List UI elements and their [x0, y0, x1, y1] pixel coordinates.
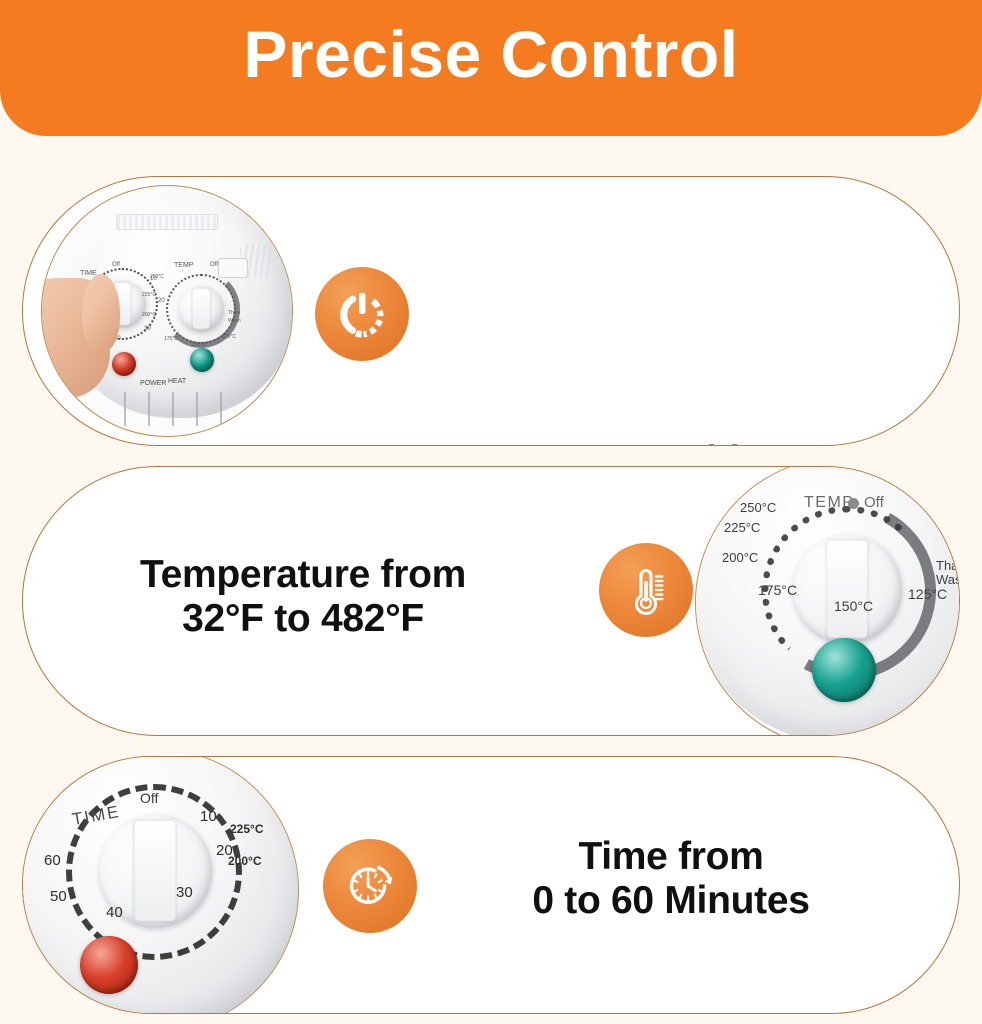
- finger-tip: [82, 274, 120, 352]
- card-heading-time: Time from 0 to 60 Minutes: [441, 835, 901, 922]
- photo-inner: TIME Off 10 20 30 40 50 60 TEMP Off 250°…: [42, 186, 292, 436]
- card-heading-line1: Temperature from: [83, 553, 523, 597]
- product-photo-temp-dial: TEMP Off 250°C 225°C 200°C 175°C 150°C 1…: [695, 466, 960, 736]
- temp-off-label: Off: [210, 262, 218, 268]
- clock-timer-icon: [339, 855, 401, 917]
- header-banner: Precise Control: [0, 0, 982, 136]
- temp-tick-250: 250°C: [740, 500, 776, 515]
- temp-dial-label: TEMP: [174, 262, 193, 269]
- card-heading-line1: Two Intuitive: [551, 439, 797, 446]
- feature-card-temperature: Temperature from 32°F to 482°F TEMP Off …: [22, 466, 960, 736]
- power-indicator-lamp: [80, 936, 138, 994]
- temp-knob[interactable]: [792, 534, 902, 644]
- temp-off-label: Off: [864, 494, 884, 511]
- card-heading-line1: Time from: [441, 835, 901, 879]
- temp-tick-250: 250°C: [150, 274, 164, 280]
- clock-timer-icon-badge: [323, 839, 417, 933]
- power-indicator-lamp: [112, 352, 136, 376]
- handle-icon: [218, 258, 248, 278]
- time-tick-60: 60: [44, 852, 61, 869]
- temp-tick-225: 225°C: [142, 292, 156, 298]
- card-heading-line2: 32°F to 482°F: [83, 597, 523, 641]
- lid-graphic-strip: [116, 214, 218, 230]
- card-heading-line2: 0 to 60 Minutes: [441, 879, 901, 923]
- temp-off-marker: [848, 498, 859, 509]
- temp-tick-175: 175°C: [164, 336, 178, 342]
- photo-inner: TIME Off 10 20 30 40 50 60 225°C 200°C: [22, 756, 298, 1014]
- heat-indicator-lamp: [190, 348, 214, 372]
- thaw-label: Thaw: [936, 558, 960, 573]
- product-photo-time-dial: TIME Off 10 20 30 40 50 60 225°C 200°C: [22, 756, 299, 1014]
- temp-tick-200: 200°C: [722, 550, 758, 565]
- thaw-label: Thaw: [228, 310, 240, 316]
- time-tick-30: 30: [176, 884, 193, 901]
- card-heading-temperature: Temperature from 32°F to 482°F: [83, 553, 523, 640]
- wash-label: Wash: [936, 572, 960, 587]
- temp-tick-225: 225°C: [230, 822, 264, 836]
- temp-tick-125: 125°C: [908, 586, 947, 602]
- photo-inner: TEMP Off 250°C 225°C 200°C 175°C 150°C 1…: [696, 466, 960, 736]
- temp-tick-200: 200°C: [142, 312, 156, 318]
- time-tick-10: 10: [200, 808, 217, 825]
- temp-tick-125: 125°C: [222, 334, 236, 340]
- temp-tick-200: 200°C: [228, 854, 262, 868]
- temp-tick-175: 175°C: [758, 582, 797, 598]
- feature-card-time: TIME Off 10 20 30 40 50 60 225°C 200°C: [22, 756, 960, 1014]
- temp-tick-150: 150°C: [192, 342, 206, 348]
- product-photo-control-panel: TIME Off 10 20 30 40 50 60 TEMP Off 250°…: [41, 185, 293, 437]
- temp-dial-label: TEMP: [804, 494, 854, 512]
- page-title: Precise Control: [243, 21, 738, 115]
- temp-tick-150: 150°C: [834, 598, 873, 614]
- power-lamp-label: POWER: [140, 380, 166, 387]
- temp-knob[interactable]: [178, 286, 224, 332]
- thermometer-icon: [617, 561, 675, 619]
- wash-label: Wash: [228, 318, 241, 324]
- temp-tick-225: 225°C: [724, 520, 760, 535]
- thermometer-icon-badge: [599, 543, 693, 637]
- time-off-label: Off: [112, 262, 120, 268]
- feature-card-control-knob: TIME Off 10 20 30 40 50 60 TEMP Off 250°…: [22, 176, 960, 446]
- base-slots: [104, 392, 224, 426]
- power-icon-badge: [315, 267, 409, 361]
- time-off-label: Off: [140, 790, 158, 806]
- time-tick-50: 50: [50, 888, 67, 905]
- time-tick-40: 40: [106, 904, 123, 921]
- card-heading-control-knob: Two Intuitive Control Knob: [551, 439, 797, 446]
- power-icon: [331, 283, 393, 345]
- heat-indicator-lamp: [812, 638, 876, 702]
- time-tick-30: 30: [144, 326, 151, 332]
- heat-lamp-label: HEAT: [168, 378, 186, 385]
